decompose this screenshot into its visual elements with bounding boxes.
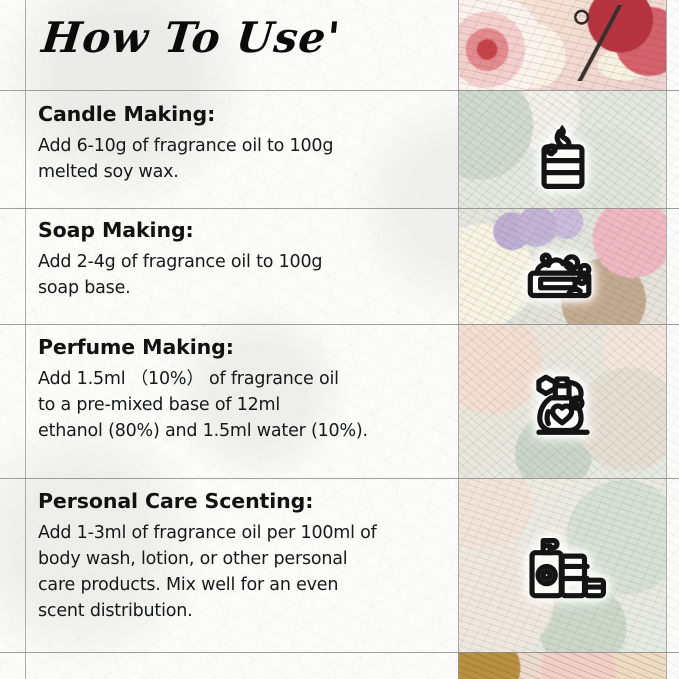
section-body: Add 1.5ml （10%） of fragrance oil to a pr… (38, 366, 438, 444)
left-margin-rule (25, 0, 26, 679)
page-title: How To Use' (39, 13, 343, 62)
section-candle-making: Candle Making: Add 6-10g of fragrance oi… (38, 102, 438, 185)
candle-icon (515, 104, 611, 200)
section-perfume-making: Perfume Making: Add 1.5ml （10%） of fragr… (38, 335, 438, 444)
section-soap-making: Soap Making: Add 2-4g of fragrance oil t… (38, 218, 438, 301)
section-body: Add 6-10g of fragrance oil to 100g melte… (38, 133, 438, 185)
column-divider-rule (458, 0, 459, 679)
perfume-bottle-icon (515, 355, 611, 451)
key-and-tag-silhouette (566, 5, 637, 81)
divider-after-perfume (0, 478, 679, 479)
section-body: Add 1-3ml of fragrance oil per 100ml of … (38, 520, 438, 624)
divider-after-soap (0, 324, 679, 325)
divider-after-title (0, 90, 679, 91)
section-heading: Personal Care Scenting: (38, 489, 438, 513)
divider-after-candle (0, 208, 679, 209)
section-personal-care-scenting: Personal Care Scenting: Add 1-3ml of fra… (38, 489, 438, 624)
section-body: Add 2-4g of fragrance oil to 100g soap b… (38, 249, 438, 301)
right-margin-strip (666, 0, 679, 679)
right-edge-rule (666, 0, 667, 679)
section-heading: Candle Making: (38, 102, 438, 126)
personal-care-products-icon (515, 515, 611, 611)
how-to-use-card: How To Use' Candle Making: Add 6-10g of … (0, 0, 679, 679)
section-heading: Soap Making: (38, 218, 438, 242)
band-roses-and-key (458, 0, 666, 90)
divider-after-personal-care (0, 652, 679, 653)
section-heading: Perfume Making: (38, 335, 438, 359)
soap-bar-icon (515, 220, 611, 316)
band-warm-bottom-strip (458, 652, 666, 679)
